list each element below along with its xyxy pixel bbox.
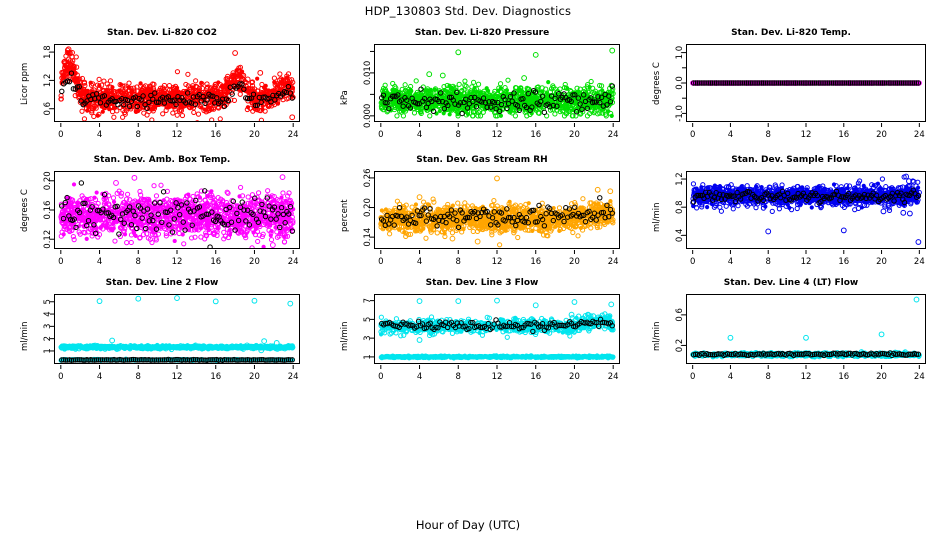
plot-area-sampleflow — [686, 171, 926, 249]
y-axis-label-sampleflow: ml/min — [652, 202, 662, 232]
panel-title-line3: Stan. Dev. Line 3 Flow — [338, 278, 626, 288]
data-points-pressure — [375, 45, 619, 121]
panel-title-pressure: Stan. Dev. Li-820 Pressure — [338, 28, 626, 38]
y-axis-label-co2: Licor ppm — [20, 63, 30, 105]
svg-text:8: 8 — [456, 130, 461, 140]
svg-text:0.010: 0.010 — [363, 61, 373, 85]
panel-title-litemp: Stan. Dev. Li-820 Temp. — [650, 28, 932, 38]
svg-text:8: 8 — [766, 130, 771, 140]
plot-area-line3 — [374, 294, 620, 364]
svg-text:0: 0 — [58, 130, 63, 140]
y-axis-label-litemp: degrees C — [652, 62, 662, 105]
data-points-litemp — [687, 45, 925, 121]
data-points-line4 — [687, 295, 925, 363]
panel-sampleflow: Stan. Dev. Sample Flow048121620240.40.81… — [650, 155, 932, 275]
svg-text:12: 12 — [492, 130, 503, 140]
data-points-boxtemp — [55, 172, 299, 248]
svg-text:1.2: 1.2 — [43, 74, 53, 88]
plot-area-rh — [374, 171, 620, 249]
data-points-line3 — [375, 295, 619, 363]
svg-text:16: 16 — [530, 130, 541, 140]
panel-pressure: Stan. Dev. Li-820 Pressure048121620240.0… — [338, 28, 626, 148]
global-x-axis-label: Hour of Day (UTC) — [0, 518, 936, 532]
data-points-sampleflow — [687, 172, 925, 248]
panel-rh: Stan. Dev. Gas Stream RH048121620240.140… — [338, 155, 626, 275]
panel-line4: Stan. Dev. Line 4 (LT) Flow048121620240.… — [650, 278, 932, 390]
svg-text:0.6: 0.6 — [43, 102, 53, 116]
svg-text:16: 16 — [838, 130, 849, 140]
panel-boxtemp: Stan. Dev. Amb. Box Temp.048121620240.12… — [18, 155, 306, 275]
panel-litemp: Stan. Dev. Li-820 Temp.04812162024-1.00.… — [650, 28, 932, 148]
panel-title-rh: Stan. Dev. Gas Stream RH — [338, 155, 626, 165]
y-axis-label-line3: ml/min — [340, 321, 350, 351]
y-axis-label-line2: ml/min — [20, 321, 30, 351]
y-axis-label-boxtemp: degrees C — [20, 189, 30, 232]
svg-text:12: 12 — [801, 130, 812, 140]
panel-line3: Stan. Dev. Line 3 Flow048121620241357ml/… — [338, 278, 626, 390]
figure-canvas: HDP_130803 Std. Dev. Diagnostics Stan. D… — [0, 0, 936, 540]
svg-text:-1.0: -1.0 — [675, 105, 685, 122]
panel-title-boxtemp: Stan. Dev. Amb. Box Temp. — [18, 155, 306, 165]
plot-area-line4 — [686, 294, 926, 364]
plot-area-pressure — [374, 44, 620, 122]
figure-title: HDP_130803 Std. Dev. Diagnostics — [0, 4, 936, 18]
svg-text:0: 0 — [378, 130, 383, 140]
svg-text:24: 24 — [288, 130, 299, 140]
svg-text:0.0: 0.0 — [675, 76, 685, 90]
svg-text:12: 12 — [172, 130, 183, 140]
plot-area-co2 — [54, 44, 300, 122]
svg-text:24: 24 — [608, 130, 619, 140]
svg-text:4: 4 — [728, 130, 733, 140]
svg-text:16: 16 — [210, 130, 221, 140]
data-points-rh — [375, 172, 619, 248]
svg-text:4: 4 — [97, 130, 102, 140]
panel-line2: Stan. Dev. Line 2 Flow0481216202412345ml… — [18, 278, 306, 390]
svg-text:8: 8 — [136, 130, 141, 140]
panel-title-line4: Stan. Dev. Line 4 (LT) Flow — [650, 278, 932, 288]
svg-text:20: 20 — [569, 130, 580, 140]
svg-text:20: 20 — [876, 130, 887, 140]
svg-text:20: 20 — [249, 130, 260, 140]
svg-text:0.000: 0.000 — [363, 104, 373, 128]
plot-area-boxtemp — [54, 171, 300, 249]
plot-area-litemp — [686, 44, 926, 122]
y-axis-label-pressure: kPa — [340, 90, 350, 105]
data-points-line2 — [55, 295, 299, 363]
svg-text:1.8: 1.8 — [43, 45, 53, 59]
panel-title-sampleflow: Stan. Dev. Sample Flow — [650, 155, 932, 165]
y-axis-label-rh: percent — [340, 199, 350, 232]
svg-text:1.0: 1.0 — [675, 46, 685, 60]
panel-title-co2: Stan. Dev. Li-820 CO2 — [18, 28, 306, 38]
plot-area-line2 — [54, 294, 300, 364]
data-points-co2 — [55, 45, 299, 121]
y-axis-label-line4: ml/min — [652, 321, 662, 351]
svg-text:4: 4 — [417, 130, 422, 140]
panel-co2: Stan. Dev. Li-820 CO2048121620240.61.21.… — [18, 28, 306, 148]
svg-text:0: 0 — [690, 130, 695, 140]
svg-text:24: 24 — [914, 130, 925, 140]
panel-title-line2: Stan. Dev. Line 2 Flow — [18, 278, 306, 288]
